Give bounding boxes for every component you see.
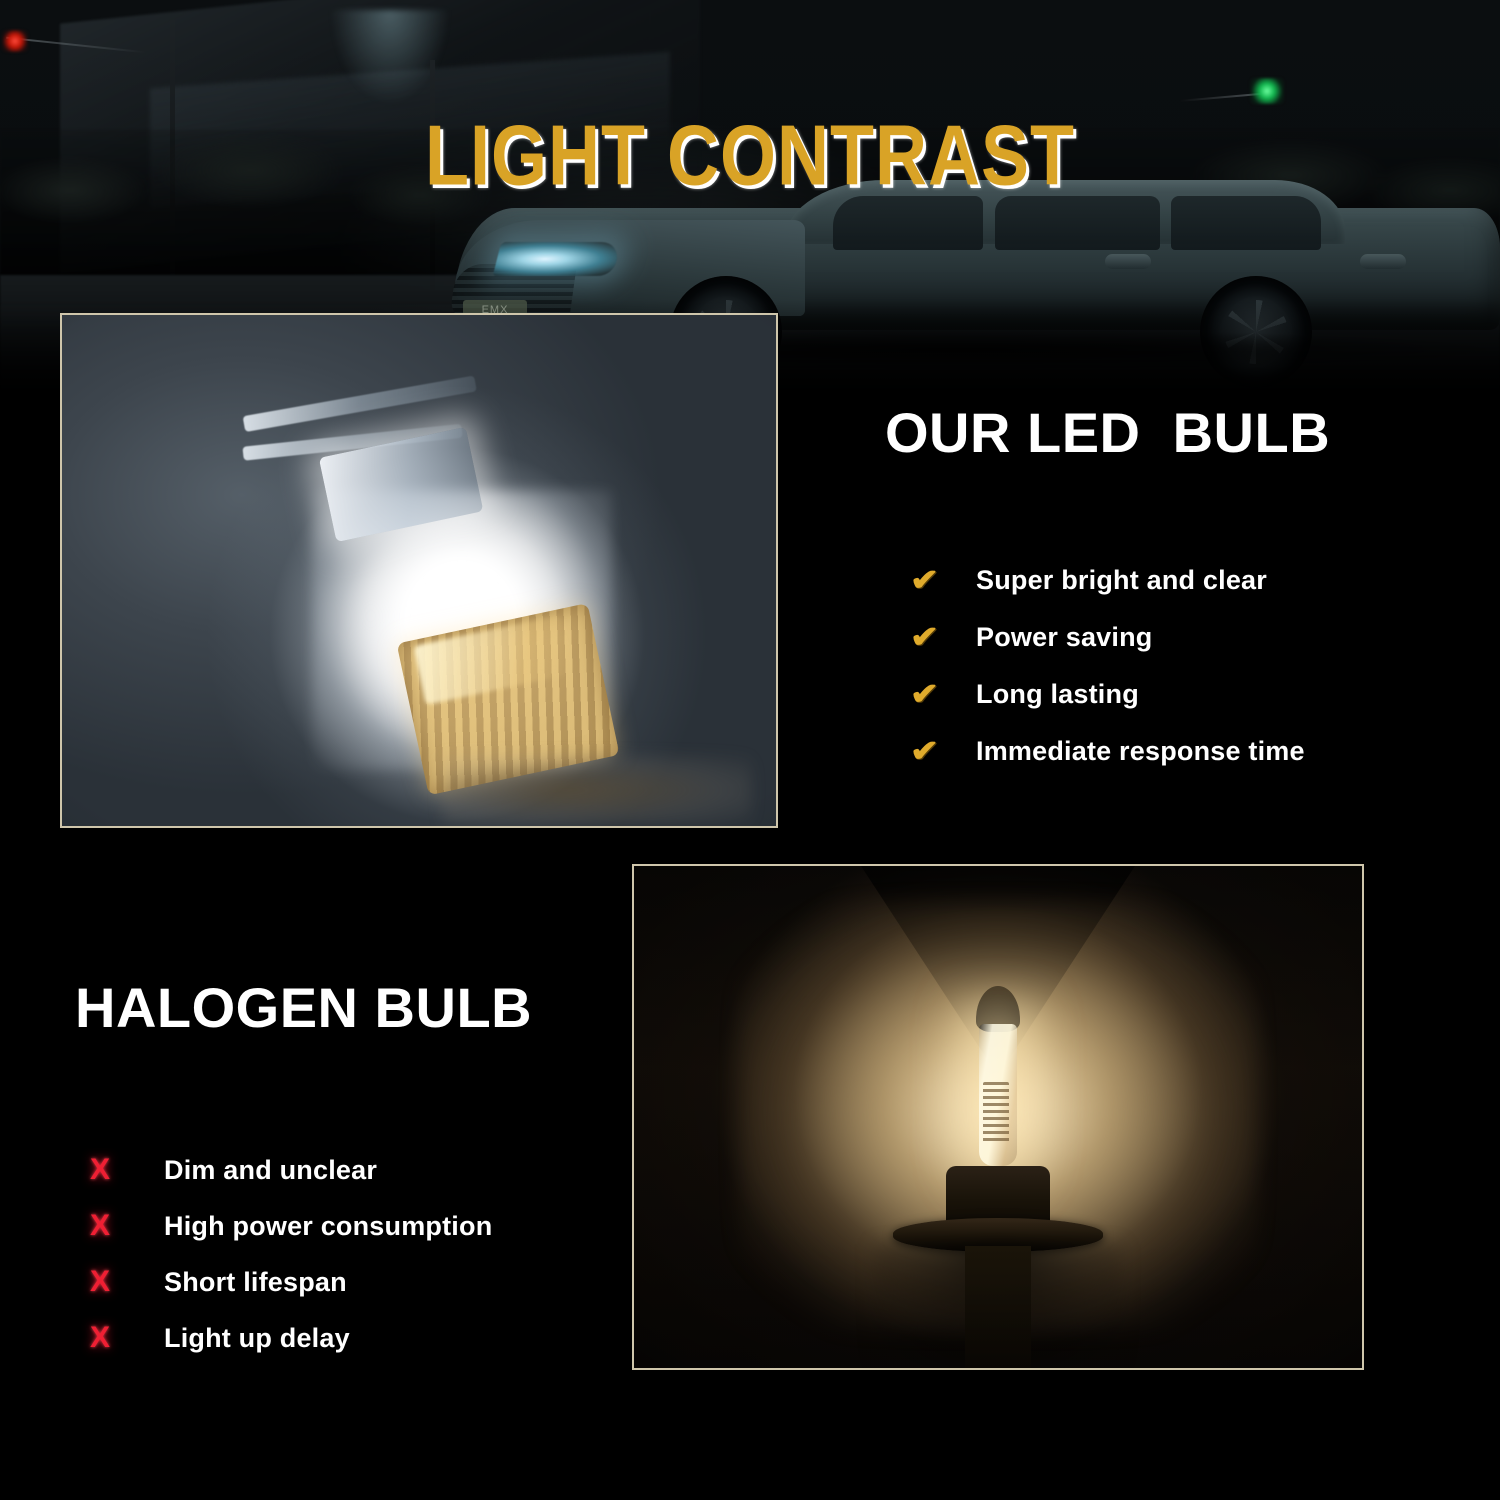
- list-item: ✔ Long lasting: [910, 666, 1305, 723]
- check-icon: ✔: [910, 566, 986, 596]
- led-feature-label: Super bright and clear: [976, 565, 1267, 596]
- halogen-feature-label: Light up delay: [164, 1323, 350, 1354]
- led-feature-label: Long lasting: [976, 679, 1139, 710]
- page-title: LIGHT CONTRAST: [0, 108, 1500, 205]
- list-item: ✔ Power saving: [910, 609, 1305, 666]
- halogen-bulb-photo-panel: [632, 864, 1364, 1370]
- halogen-photo-vignette: [634, 866, 1362, 1368]
- check-icon: ✔: [910, 680, 986, 710]
- halogen-section-heading: HALOGEN BULB: [75, 975, 532, 1040]
- halogen-feature-label: High power consumption: [164, 1211, 492, 1242]
- led-photo-vignette: [62, 315, 776, 826]
- list-item: X High power consumption: [90, 1198, 492, 1254]
- led-feature-list: ✔ Super bright and clear ✔ Power saving …: [910, 552, 1305, 780]
- check-icon: ✔: [910, 737, 986, 767]
- check-icon: ✔: [910, 623, 986, 653]
- led-bulb-photo-panel: [60, 313, 778, 828]
- list-item: ✔ Super bright and clear: [910, 552, 1305, 609]
- list-item: ✔ Immediate response time: [910, 723, 1305, 780]
- cross-icon: X: [90, 1155, 164, 1185]
- car-door-handle-rear: [1360, 254, 1406, 269]
- list-item: X Dim and unclear: [90, 1142, 492, 1198]
- halogen-feature-label: Dim and unclear: [164, 1155, 377, 1186]
- car-door-handle-front: [1105, 254, 1151, 269]
- led-section-heading: OUR LED BULB: [885, 400, 1330, 465]
- list-item: X Light up delay: [90, 1310, 492, 1366]
- traffic-light-red-icon: [2, 30, 28, 52]
- cross-icon: X: [90, 1211, 164, 1241]
- product-comparison-infographic: EMX LIGHT CONTRAST OUR LED BULB ✔: [0, 0, 1500, 1500]
- cross-icon: X: [90, 1267, 164, 1297]
- halogen-feature-list: X Dim and unclear X High power consumpti…: [90, 1142, 492, 1366]
- cross-icon: X: [90, 1323, 164, 1353]
- car-headlight-icon: [493, 242, 621, 276]
- halogen-feature-label: Short lifespan: [164, 1267, 347, 1298]
- list-item: X Short lifespan: [90, 1254, 492, 1310]
- led-feature-label: Power saving: [976, 622, 1152, 653]
- traffic-light-green-icon: [1250, 78, 1284, 104]
- led-feature-label: Immediate response time: [976, 736, 1305, 767]
